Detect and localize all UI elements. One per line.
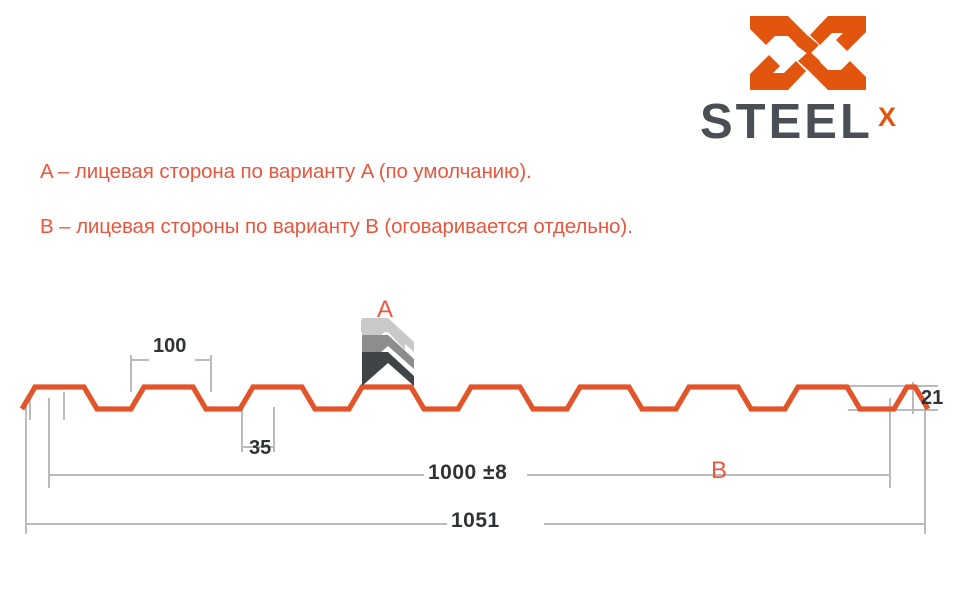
- dimension-label-useful-width: 1000 ±8: [428, 461, 507, 485]
- side-a-marker-label: A: [377, 296, 393, 324]
- dimension-label-height: 21: [921, 387, 943, 410]
- dimension-label-total-width: 1051: [451, 509, 500, 533]
- dimension-label-valley-width: 35: [249, 437, 271, 460]
- side-b-marker-label: B: [711, 457, 727, 485]
- side-a-chevron-marker: [361, 318, 414, 386]
- dimension-lines: [26, 355, 938, 534]
- dimension-label-pitch: 100: [153, 335, 186, 358]
- profile-technical-drawing: [0, 0, 970, 593]
- drawing-canvas: STEEL X A – лицевая сторона по варианту …: [0, 0, 970, 593]
- corrugated-profile-path: [22, 387, 928, 409]
